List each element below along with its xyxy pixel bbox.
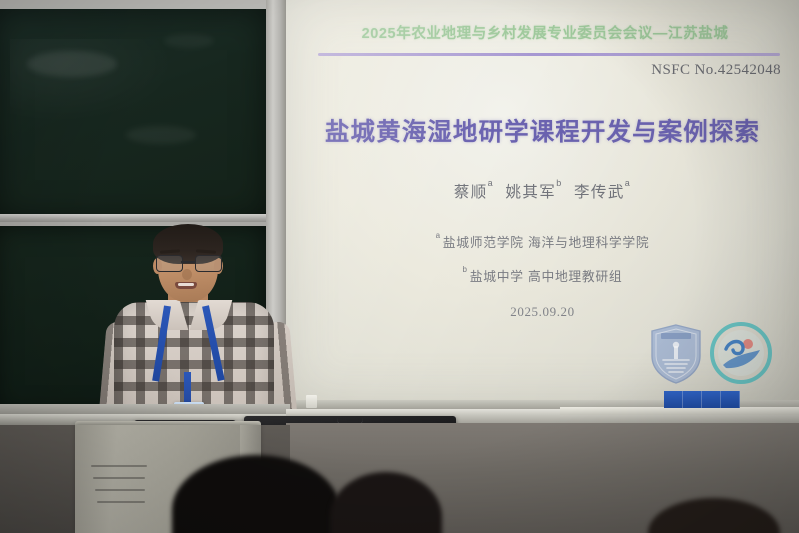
slide-logo-group bbox=[642, 322, 787, 388]
author-list: 蔡顺a 姚其军b 李传武a bbox=[286, 180, 799, 202]
slide-header-rule bbox=[318, 53, 780, 56]
affiliation-text-2: 盐城中学 高中地理教研组 bbox=[470, 269, 623, 284]
affiliation-mark-1: a bbox=[436, 231, 441, 240]
projection-screen: 2025年农业地理与乡村发展专业委员会会议—江苏盐城 NSFC No.42542… bbox=[286, 0, 799, 406]
affiliation-text-1: 盐城师范学院 海洋与地理科学学院 bbox=[443, 235, 650, 250]
slide-date: 2025.09.20 bbox=[286, 304, 799, 320]
institute-circle-logo bbox=[710, 322, 772, 384]
author-name-1: 蔡顺 bbox=[454, 184, 488, 201]
affiliation-line-1: a盐城师范学院 海洋与地理科学学院 bbox=[286, 232, 799, 251]
affiliation-mark-2: b bbox=[463, 265, 468, 274]
blue-item-2 bbox=[683, 391, 702, 408]
lecture-room-photo: 2025年农业地理与乡村发展专业委员会会议—江苏盐城 NSFC No.42542… bbox=[0, 0, 799, 533]
university-shield-logo bbox=[650, 324, 702, 384]
author-name-2: 姚其军 bbox=[506, 184, 557, 201]
blackboard-upper bbox=[0, 4, 273, 226]
author-name-3: 李传武 bbox=[574, 184, 625, 201]
presenter-mouth bbox=[175, 282, 197, 289]
presenter-nose bbox=[182, 269, 192, 280]
affiliation-line-2: b盐城中学 高中地理教研组 bbox=[286, 266, 799, 285]
lanyard-strap-center bbox=[184, 372, 191, 406]
author-mark-2: b bbox=[556, 178, 562, 188]
blue-item-4 bbox=[721, 391, 740, 408]
blue-item-1 bbox=[664, 391, 683, 408]
desk-cup bbox=[306, 395, 317, 408]
grant-number: NSFC No.42542048 bbox=[651, 62, 781, 79]
author-mark-1: a bbox=[488, 178, 494, 188]
slide-header-banner: 2025年农业地理与乡村发展专业委员会会议—江苏盐城 bbox=[310, 22, 780, 43]
slide-title: 盐城黄海湿地研学课程开发与案例探索 bbox=[286, 113, 799, 148]
author-mark-3: a bbox=[625, 178, 631, 188]
side-ledge bbox=[560, 407, 799, 415]
blue-item-3 bbox=[702, 391, 721, 408]
